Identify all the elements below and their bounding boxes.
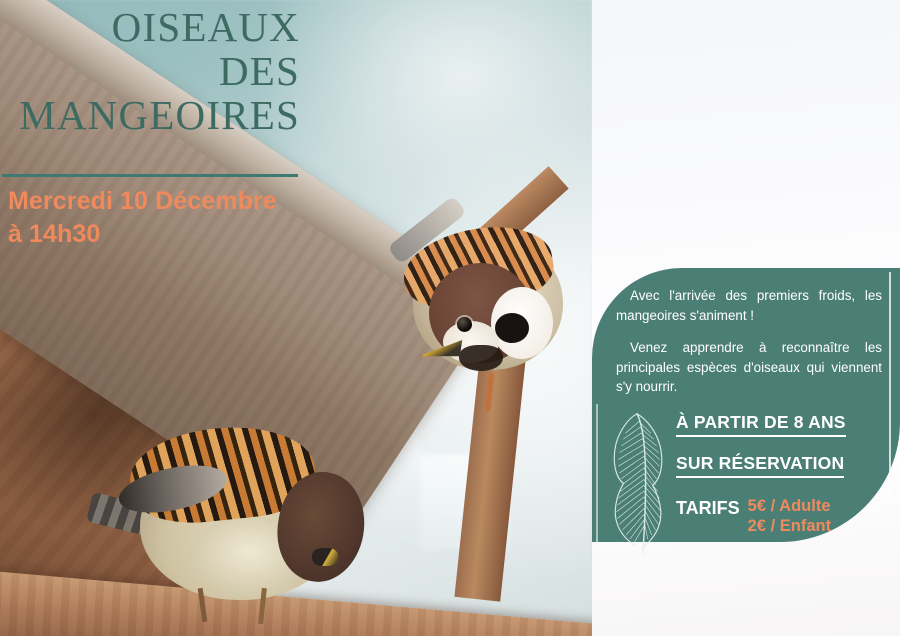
tarifs-label: TARIFS	[676, 496, 740, 519]
tarif-enfant: 2€ / Enfant	[748, 516, 831, 536]
age-requirement: À PARTIR DE 8 ANS	[676, 412, 846, 437]
intro-text: Avec l'arrivée des premiers froids, les …	[616, 286, 882, 397]
sparrow-lower	[100, 420, 390, 620]
sparrow-upper-bib	[459, 345, 503, 371]
title-line-2: DES	[8, 52, 300, 92]
event-date: Mercredi 10 Décembre à 14h30	[8, 185, 302, 251]
sparrow-upper-cheek-spot	[495, 313, 529, 343]
event-date-line-1: Mercredi 10 Décembre	[8, 185, 302, 218]
sparrow-upper	[395, 225, 580, 410]
poster-root: OISEAUX DES MANGEOIRES Mercredi 10 Décem…	[0, 0, 900, 636]
title-line-1: OISEAUX	[8, 8, 300, 48]
poster-footer: l'Île du Beurre Centre d'observation de …	[592, 548, 900, 636]
reservation-notice: SUR RÉSERVATION	[676, 453, 844, 478]
sparrow-lower-beak	[312, 548, 338, 566]
tarif-adulte: 5€ / Adulte	[748, 496, 831, 516]
intro-paragraph-2: Venez apprendre à reconnaître les princi…	[616, 338, 882, 397]
title-line-3: MANGEOIRES	[8, 96, 300, 136]
tarifs-values: 5€ / Adulte 2€ / Enfant	[748, 496, 831, 537]
poster-title: OISEAUX DES MANGEOIRES	[8, 8, 300, 135]
event-date-line-2: à 14h30	[8, 218, 302, 251]
tarifs-row: TARIFS 5€ / Adulte 2€ / Enfant	[676, 496, 886, 537]
sparrow-upper-eye	[457, 317, 472, 332]
event-info-block: À PARTIR DE 8 ANS SUR RÉSERVATION TARIFS…	[676, 412, 886, 537]
intro-paragraph-1: Avec l'arrivée des premiers froids, les …	[616, 286, 882, 325]
feather-icon	[600, 408, 678, 558]
title-divider	[2, 174, 298, 177]
panel-accent-line-left	[596, 404, 598, 542]
sparrow-upper-leg	[485, 373, 494, 411]
panel-accent-line-right	[889, 272, 891, 500]
